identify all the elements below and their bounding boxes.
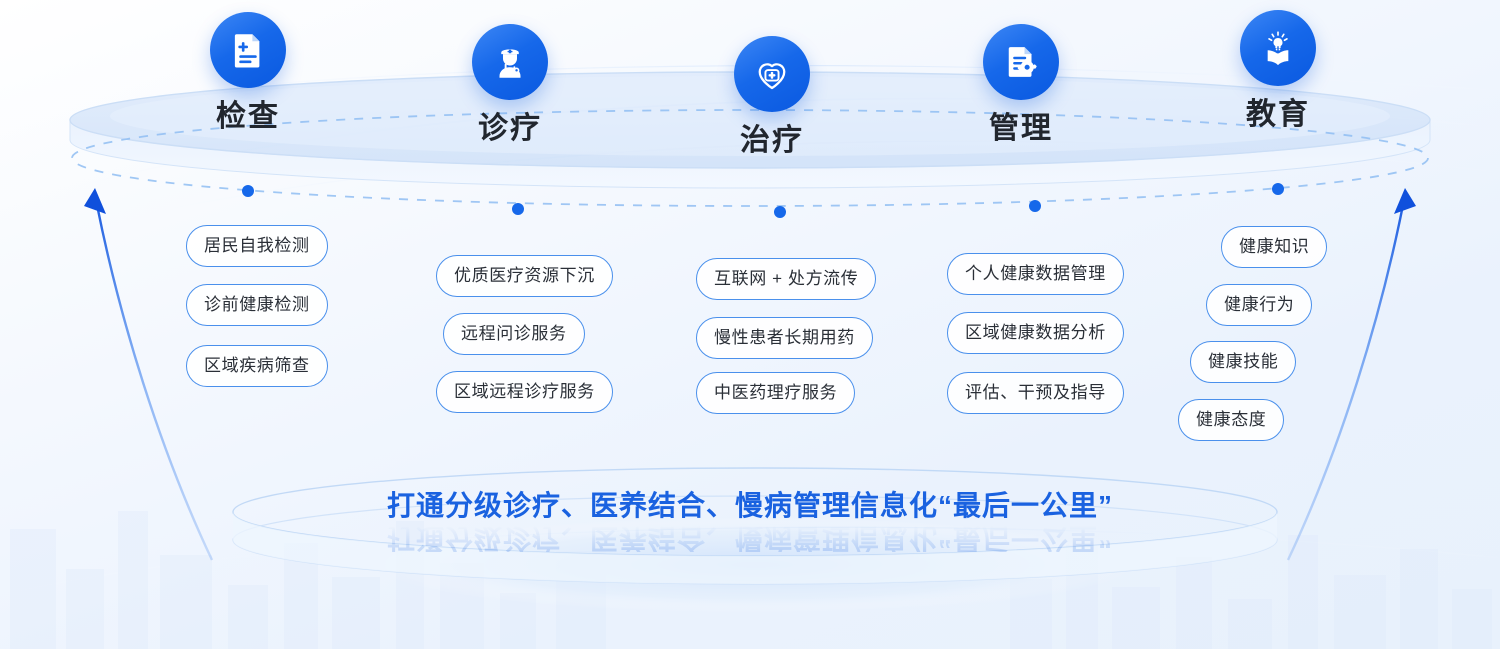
pill-item[interactable]: 远程问诊服务: [443, 313, 585, 355]
pill-item[interactable]: 优质医疗资源下沉: [436, 255, 613, 297]
pill-item[interactable]: 健康态度: [1178, 399, 1284, 441]
pill-item[interactable]: 区域远程诊疗服务: [436, 371, 613, 413]
heart-cross-icon: [734, 36, 810, 112]
document-gear-icon: [983, 24, 1059, 100]
pill-item[interactable]: 个人健康数据管理: [947, 253, 1124, 295]
pill-item[interactable]: 诊前健康检测: [186, 284, 328, 326]
pill-item[interactable]: 区域疾病筛查: [186, 345, 328, 387]
banner-headline-reflection: 打通分级诊疗、医养结合、慢病管理信息化“最后一公里”: [0, 524, 1500, 552]
medical-report-icon: [210, 12, 286, 88]
pill-item[interactable]: 健康技能: [1190, 341, 1296, 383]
background-city-silhouette: [0, 459, 1500, 649]
pill-item[interactable]: 区域健康数据分析: [947, 312, 1124, 354]
category-node-3[interactable]: 管理: [983, 24, 1059, 144]
pill-item[interactable]: 健康知识: [1221, 226, 1327, 268]
category-label: 检查: [216, 102, 280, 132]
category-label: 管理: [989, 114, 1053, 144]
pill-item[interactable]: 评估、干预及指导: [947, 372, 1124, 414]
book-bulb-icon: [1240, 10, 1316, 86]
pill-item[interactable]: 互联网 + 处方流传: [696, 258, 876, 300]
category-node-1[interactable]: 诊疗: [472, 24, 548, 144]
category-label: 治疗: [740, 126, 804, 156]
pill-item[interactable]: 居民自我检测: [186, 225, 328, 267]
category-node-4[interactable]: 教育: [1240, 10, 1316, 130]
banner-headline: 打通分级诊疗、医养结合、慢病管理信息化“最后一公里”: [0, 492, 1500, 520]
category-node-0[interactable]: 检查: [210, 12, 286, 132]
pill-item[interactable]: 中医药理疗服务: [696, 372, 855, 414]
category-label: 诊疗: [478, 114, 542, 144]
pill-item[interactable]: 健康行为: [1206, 284, 1312, 326]
pill-item[interactable]: 慢性患者长期用药: [696, 317, 873, 359]
category-label: 教育: [1246, 100, 1310, 130]
category-node-2[interactable]: 治疗: [734, 36, 810, 156]
doctor-icon: [472, 24, 548, 100]
